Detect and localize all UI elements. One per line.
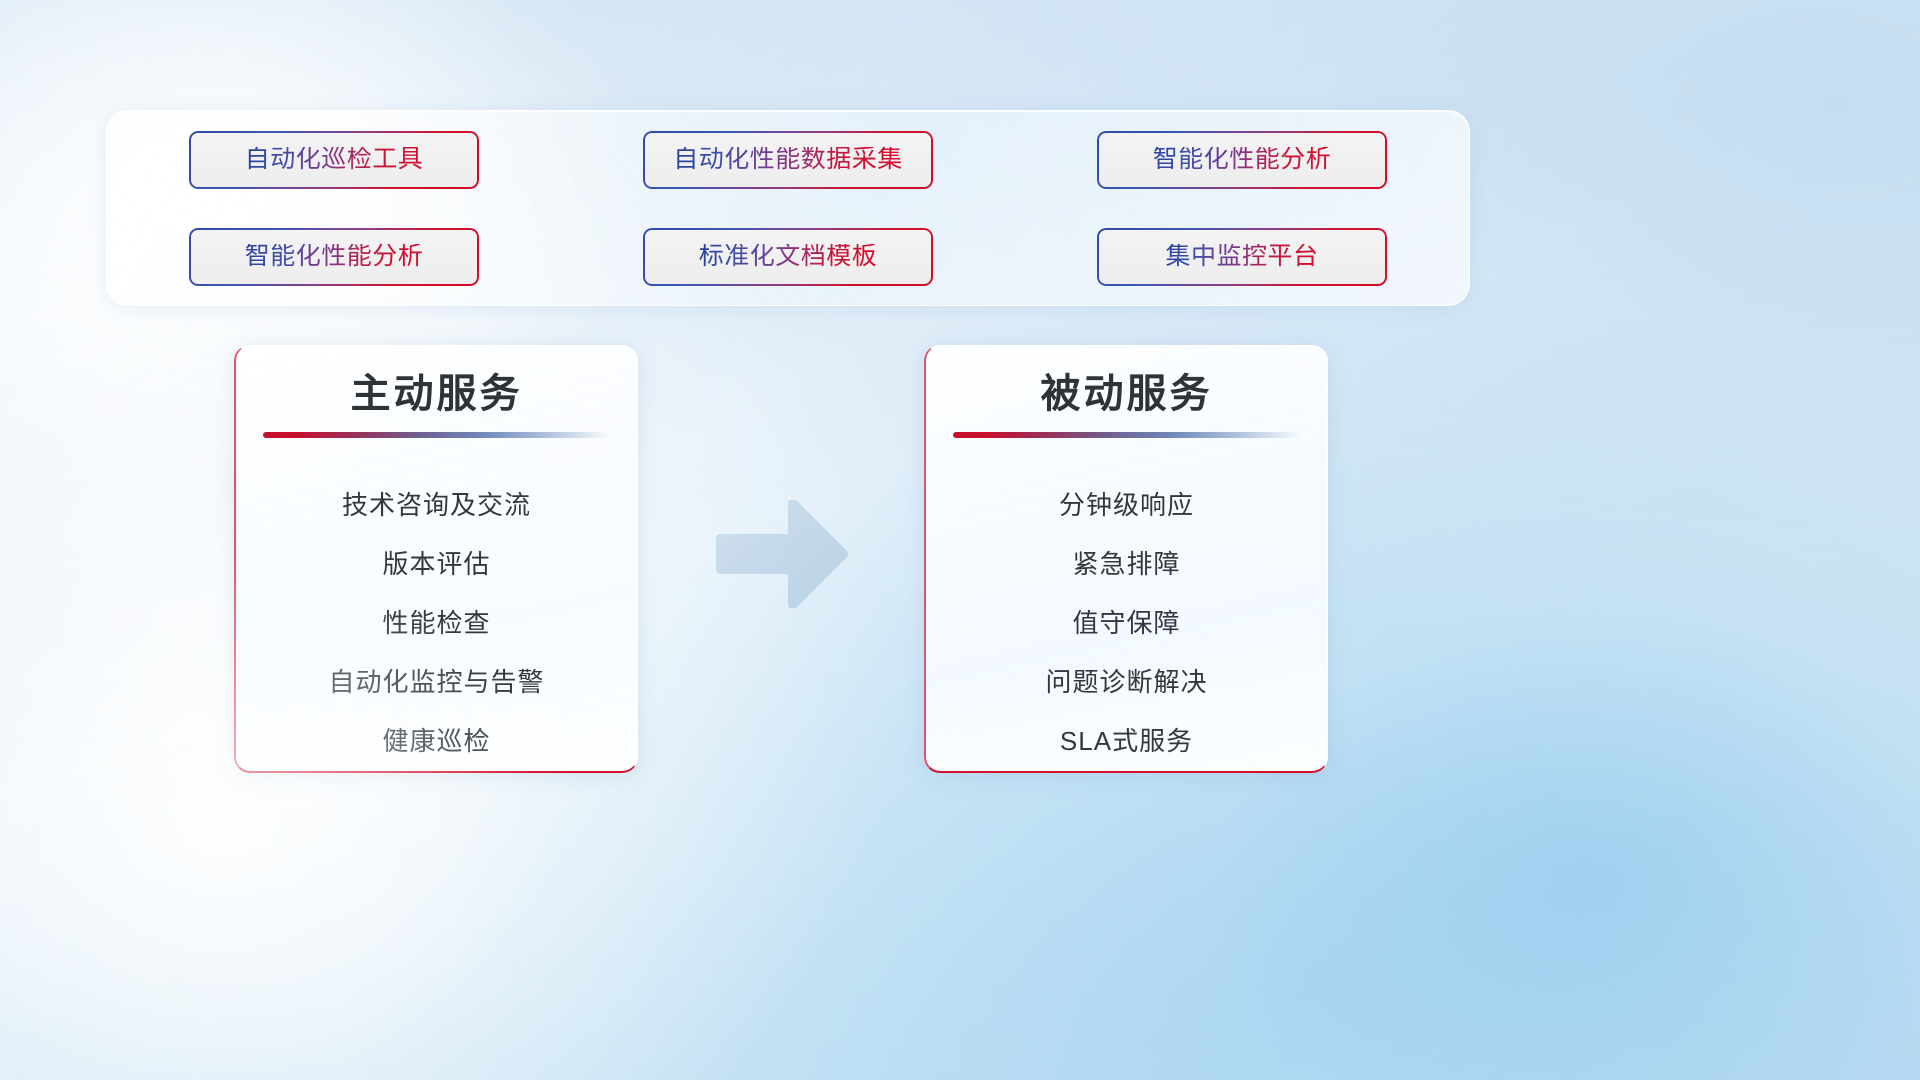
capability-chip[interactable]: 标准化文档模板 <box>643 228 933 286</box>
list-item: 版本评估 <box>382 535 490 594</box>
capability-chip-label: 集中监控平台 <box>1165 244 1318 269</box>
slide-canvas: 自动化巡检工具 自动化性能数据采集 智能化性能分析 智能化性能分析 标准化文档模… <box>0 0 1920 1080</box>
service-card-proactive: 主动服务 技术咨询及交流 版本评估 性能检查 自动化监控与告警 健康巡检 <box>234 345 638 773</box>
list-item: 值守保障 <box>1072 594 1180 653</box>
list-item: 技术咨询及交流 <box>342 476 531 535</box>
list-item: 性能检查 <box>382 594 490 653</box>
service-item-list: 分钟级响应 紧急排障 值守保障 问题诊断解决 SLA式服务 <box>926 476 1327 771</box>
card-title: 主动服务 <box>351 370 523 418</box>
capability-chip[interactable]: 集中监控平台 <box>1097 228 1387 286</box>
list-item: 健康巡检 <box>382 712 490 771</box>
capability-chip[interactable]: 自动化巡检工具 <box>189 131 479 189</box>
capability-chip-grid: 自动化巡检工具 自动化性能数据采集 智能化性能分析 智能化性能分析 标准化文档模… <box>107 111 1469 305</box>
capability-chip-label: 标准化文档模板 <box>699 244 878 269</box>
capability-chip-label: 智能化性能分析 <box>1153 147 1332 172</box>
list-item: SLA式服务 <box>1060 712 1193 771</box>
capability-chip-label: 智能化性能分析 <box>245 244 424 269</box>
capability-chip[interactable]: 智能化性能分析 <box>1097 131 1387 189</box>
service-item-list: 技术咨询及交流 版本评估 性能检查 自动化监控与告警 健康巡检 <box>236 476 637 771</box>
capability-chip-label: 自动化巡检工具 <box>245 147 424 172</box>
list-item: 紧急排障 <box>1072 535 1180 594</box>
capability-chip-label: 自动化性能数据采集 <box>673 147 903 172</box>
capability-chip[interactable]: 自动化性能数据采集 <box>643 131 933 189</box>
card-title-divider <box>953 432 1301 438</box>
capability-chip[interactable]: 智能化性能分析 <box>189 228 479 286</box>
list-item: 自动化监控与告警 <box>328 653 544 712</box>
card-title-divider <box>263 432 611 438</box>
list-item: 问题诊断解决 <box>1045 653 1207 712</box>
arrow-right-icon <box>716 500 850 608</box>
service-card-reactive: 被动服务 分钟级响应 紧急排障 值守保障 问题诊断解决 SLA式服务 <box>924 345 1328 773</box>
capability-chips-panel: 自动化巡检工具 自动化性能数据采集 智能化性能分析 智能化性能分析 标准化文档模… <box>106 110 1470 306</box>
list-item: 分钟级响应 <box>1059 476 1194 535</box>
card-title: 被动服务 <box>1041 370 1213 418</box>
